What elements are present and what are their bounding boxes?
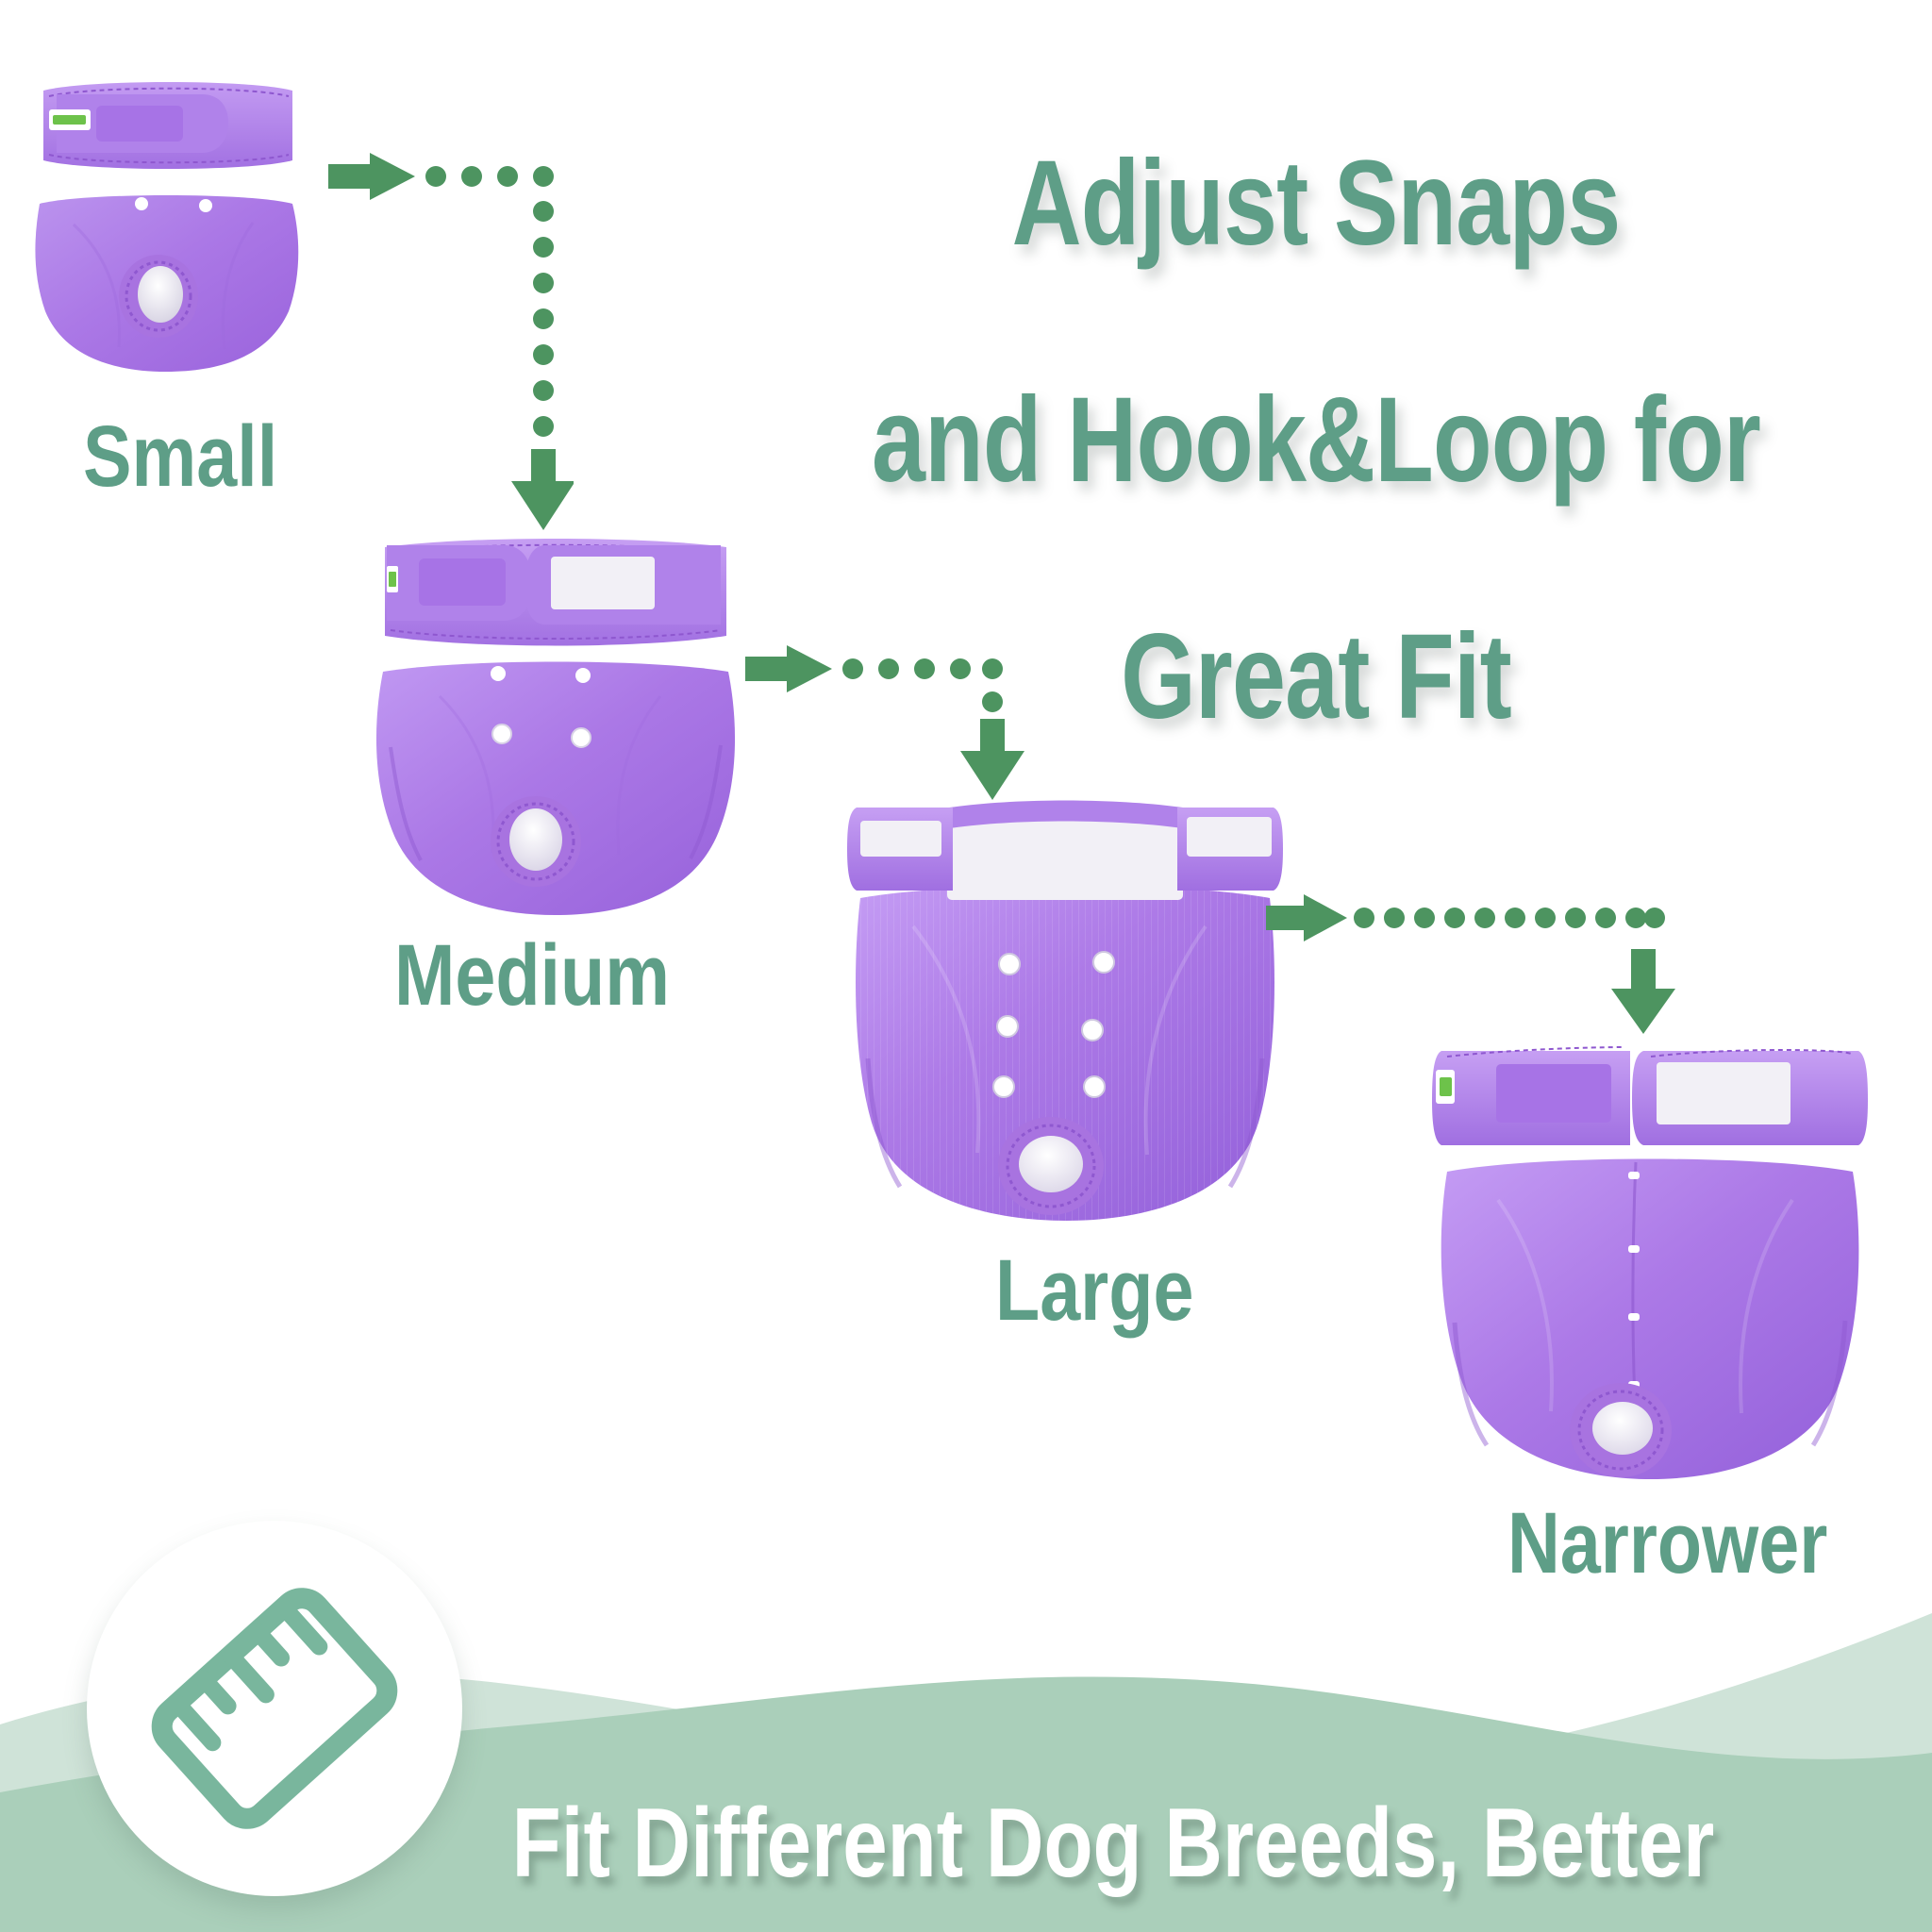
snap-button <box>1082 1020 1103 1041</box>
velcro-loop-strip-narrower <box>1657 1062 1790 1124</box>
arrow-shaft <box>1266 906 1307 930</box>
snap-button <box>575 668 591 683</box>
snap-button <box>491 666 506 681</box>
product-image-medium <box>366 530 745 926</box>
arrow-shaft <box>328 164 374 189</box>
size-label-small: Small <box>83 413 277 500</box>
headline-line-1: Adjust Snaps <box>837 144 1795 262</box>
snap-button <box>997 1016 1018 1037</box>
snap-button <box>1084 1076 1105 1097</box>
tagline: Fit Different Dog Breeds, Better Alterna… <box>456 1693 1771 1932</box>
headline-line-2: and Hook&Loop for <box>837 381 1795 499</box>
tail-hole-narrower <box>1592 1402 1653 1455</box>
arrow-head-right <box>370 153 415 200</box>
arrow-head-right <box>1304 894 1347 941</box>
product-image-large <box>847 775 1283 1228</box>
snap-button <box>199 199 212 212</box>
arrow-head-right <box>787 645 832 692</box>
tail-hole-small <box>138 266 183 323</box>
ruler-icon <box>87 1521 462 1896</box>
brand-label-mark-narrower <box>1440 1077 1452 1096</box>
product-image-small <box>17 36 319 394</box>
velcro-patch-small <box>96 106 183 142</box>
snap-button <box>1628 1245 1640 1253</box>
measurement-badge <box>87 1521 462 1896</box>
size-label-narrower: Narrower <box>1507 1500 1827 1587</box>
arrow-head-down <box>1611 989 1675 1034</box>
snap-button <box>1628 1172 1640 1179</box>
velcro-patch-left-large <box>860 821 941 857</box>
brand-label-mark-medium <box>389 572 396 587</box>
infographic-canvas: Adjust Snaps and Hook&Loop for Great Fit <box>0 0 1932 1932</box>
snap-button <box>135 197 148 210</box>
tagline-line-1: Fit Different Dog Breeds, Better <box>456 1793 1771 1893</box>
size-label-medium: Medium <box>394 932 670 1019</box>
snap-button <box>492 724 511 743</box>
size-label-large: Large <box>995 1247 1193 1334</box>
velcro-patch-right-large <box>1187 817 1272 857</box>
snap-button <box>1093 952 1114 973</box>
snap-button <box>993 1076 1014 1097</box>
brand-label-mark-small <box>53 115 86 125</box>
snap-button <box>999 954 1020 974</box>
snap-button <box>1628 1313 1640 1321</box>
arrow-head-down <box>511 481 574 530</box>
tail-hole-large <box>1019 1136 1083 1192</box>
velcro-patch-left-narrower <box>1496 1064 1611 1123</box>
arrow-shaft <box>745 657 791 681</box>
snap-button <box>572 728 591 747</box>
connector-small-to-medium <box>328 149 574 555</box>
arrow-shaft <box>1631 949 1656 994</box>
velcro-patch-left-medium <box>419 558 506 606</box>
tail-hole-medium <box>509 808 562 871</box>
product-image-narrower <box>1432 1030 1868 1502</box>
velcro-loop-strip-large <box>947 811 1183 900</box>
velcro-loop-strip-medium <box>551 557 655 609</box>
